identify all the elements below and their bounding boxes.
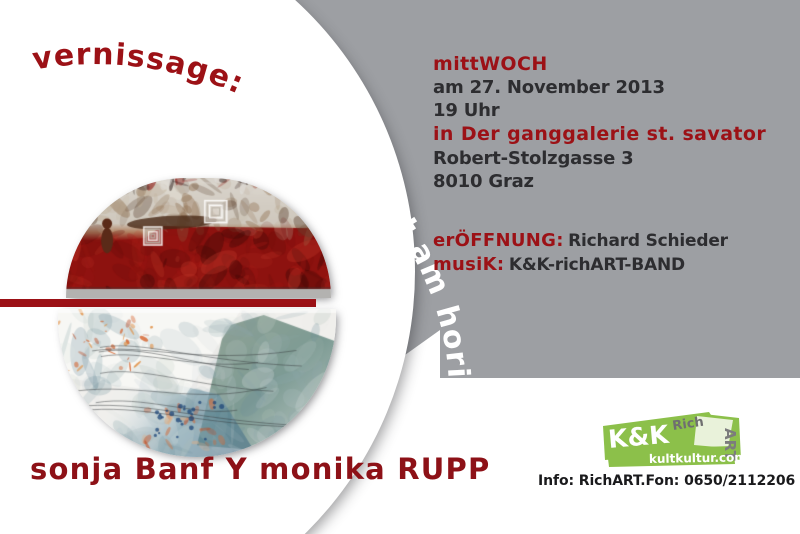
- artist-names: sonja Banf Y monika RUPP: [30, 452, 490, 486]
- credit-label-music: musiK:: [433, 254, 504, 275]
- credit-row-music: musiK: K&K-richART-BAND: [433, 253, 783, 277]
- event-city: 8010 Graz: [433, 170, 783, 193]
- event-venue: in Der ganggalerie st. savator: [433, 122, 783, 146]
- footer-contact-info: Info: RichART.Fon: 0650/2112206: [538, 473, 795, 489]
- event-weekday: mittWOCH: [433, 52, 783, 76]
- logo-domain-text: kultkultur.com: [649, 450, 743, 466]
- event-time: 19 Uhr: [433, 99, 783, 122]
- event-info-block: mittWOCH am 27. November 2013 19 Uhr in …: [433, 52, 783, 276]
- credit-label-opening: erÖFFNUNG:: [433, 230, 564, 251]
- red-divider-bar: [0, 299, 316, 307]
- event-street: Robert-Stolzgasse 3: [433, 147, 783, 170]
- info-spacer: [433, 193, 783, 229]
- credit-row-opening: erÖFFNUNG: Richard Schieder: [433, 229, 783, 253]
- credit-value-music: K&K-richART-BAND: [509, 255, 685, 275]
- logo-kk-text: K&K: [607, 420, 671, 454]
- event-date: am 27. November 2013: [433, 76, 783, 99]
- credit-value-opening: Richard Schieder: [568, 231, 728, 251]
- kk-logo[interactable]: K&K Rich ART kultkultur.com: [601, 412, 743, 468]
- invitation-card: vernissage: treffpunkt am horizont mittW…: [0, 0, 800, 534]
